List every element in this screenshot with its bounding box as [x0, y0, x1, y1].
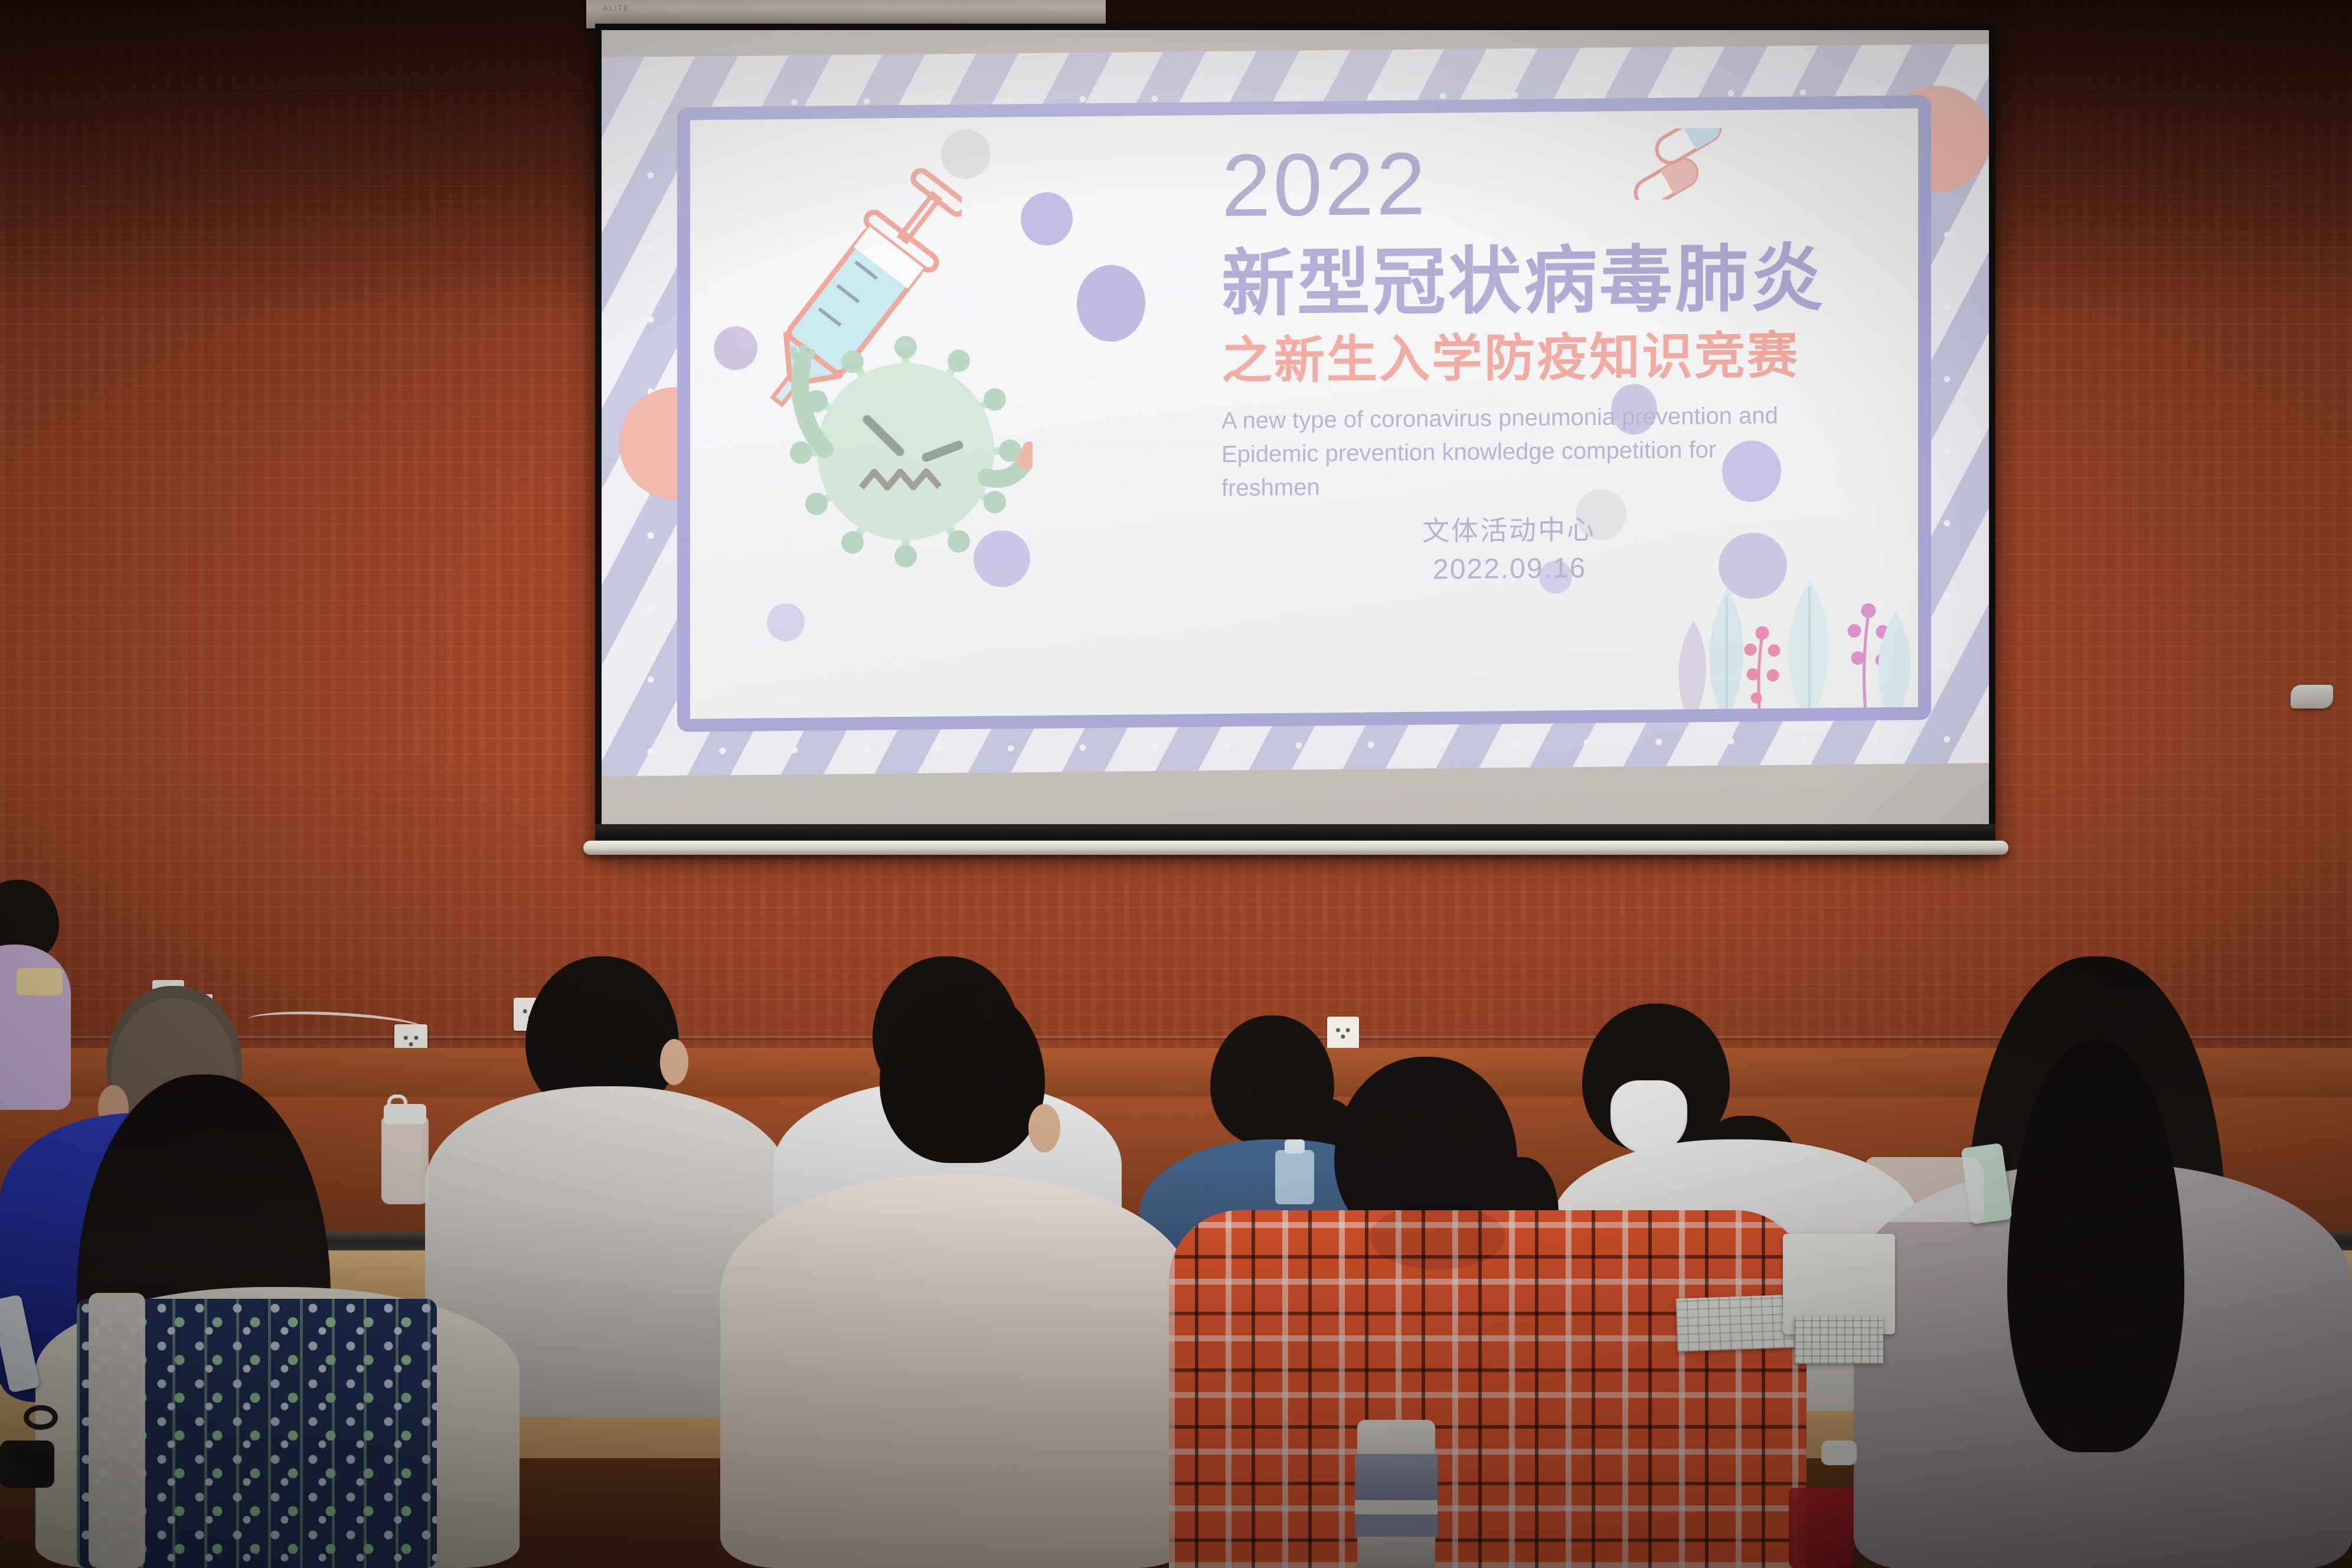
photo-vignette — [0, 0, 2352, 1568]
lecture-hall-photo: ALITE — [0, 0, 2352, 1568]
